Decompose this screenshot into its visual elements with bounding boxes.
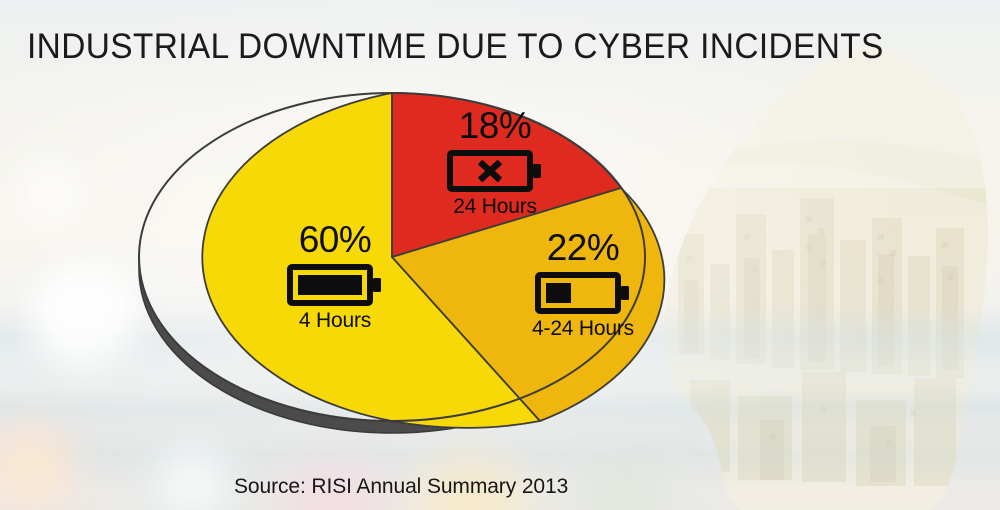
pie-chart: 60% 4 Hours 18% 24 Hours 22% — [128, 72, 664, 440]
bokeh-light-2 — [0, 418, 86, 510]
source-caption: Source: RISI Annual Summary 2013 — [234, 474, 568, 500]
infographic-canvas: INDUSTRIAL DOWNTIME DUE TO CYBER INCIDEN… — [0, 0, 1000, 510]
pie-top-face — [202, 93, 664, 428]
page-title: INDUSTRIAL DOWNTIME DUE TO CYBER INCIDEN… — [27, 26, 810, 68]
head-silhouette-cityscape-image — [660, 28, 990, 510]
bokeh-light-7 — [0, 150, 96, 246]
